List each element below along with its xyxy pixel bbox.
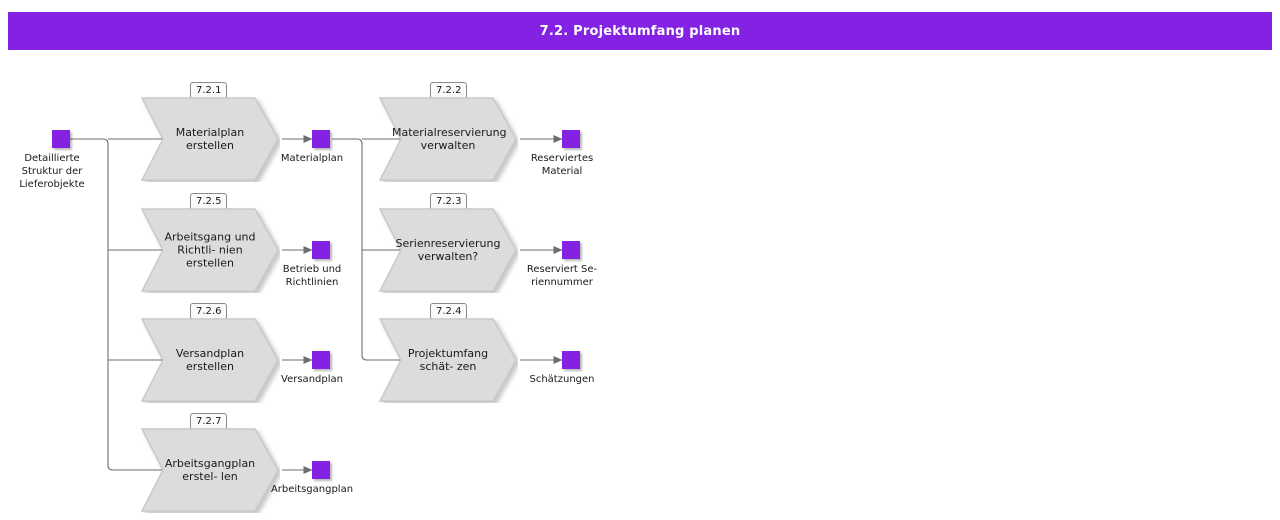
function-label: Arbeitsgangplan erstel- len	[140, 457, 280, 483]
diagram-canvas: Detaillierte Struktur der Lieferobjekte …	[0, 0, 1280, 520]
left-bus	[103, 139, 113, 470]
event-square-icon	[312, 351, 330, 369]
function-arbeitsgang-richtlinien-erstellen[interactable]: Arbeitsgang und Richtli- nien erstellen	[140, 207, 280, 293]
event-label: Schätzungen	[530, 373, 595, 386]
function-projektumfang-schaetzen[interactable]: Projektumfang schät- zen	[378, 317, 518, 403]
event-label: Versandplan	[281, 373, 343, 386]
function-label: Arbeitsgang und Richtli- nien erstellen	[140, 231, 280, 270]
event-label: Materialplan	[281, 152, 343, 165]
function-materialplan-erstellen[interactable]: Materialplan erstellen	[140, 96, 280, 182]
function-arbeitsgangplan-erstellen[interactable]: Arbeitsgangplan erstel- len	[140, 427, 280, 513]
function-label: Materialreservierung verwalten	[378, 126, 518, 152]
function-label: Versandplan erstellen	[140, 347, 280, 373]
function-label: Projektumfang schät- zen	[378, 347, 518, 373]
event-square-icon	[562, 130, 580, 148]
function-label: Serienreservierung verwalten?	[378, 237, 518, 263]
event-square-icon	[312, 241, 330, 259]
event-label: Reserviertes Material	[531, 152, 593, 178]
function-label: Materialplan erstellen	[140, 126, 280, 152]
event-square-icon	[562, 241, 580, 259]
function-materialreservierung-verwalten[interactable]: Materialreservierung verwalten	[378, 96, 518, 182]
event-square-icon	[562, 351, 580, 369]
function-versandplan-erstellen[interactable]: Versandplan erstellen	[140, 317, 280, 403]
event-label: Betrieb und Richtlinien	[283, 263, 342, 289]
event-square-icon	[312, 130, 330, 148]
event-label: Reserviert Se- riennummer	[527, 263, 597, 289]
middle-bus	[332, 139, 367, 360]
event-label: Detaillierte Struktur der Lieferobjekte	[19, 152, 84, 191]
event-square-icon	[52, 130, 70, 148]
event-label: Arbeitsgangplan	[271, 483, 353, 496]
event-square-icon	[312, 461, 330, 479]
function-serienreservierung-verwalten[interactable]: Serienreservierung verwalten?	[378, 207, 518, 293]
